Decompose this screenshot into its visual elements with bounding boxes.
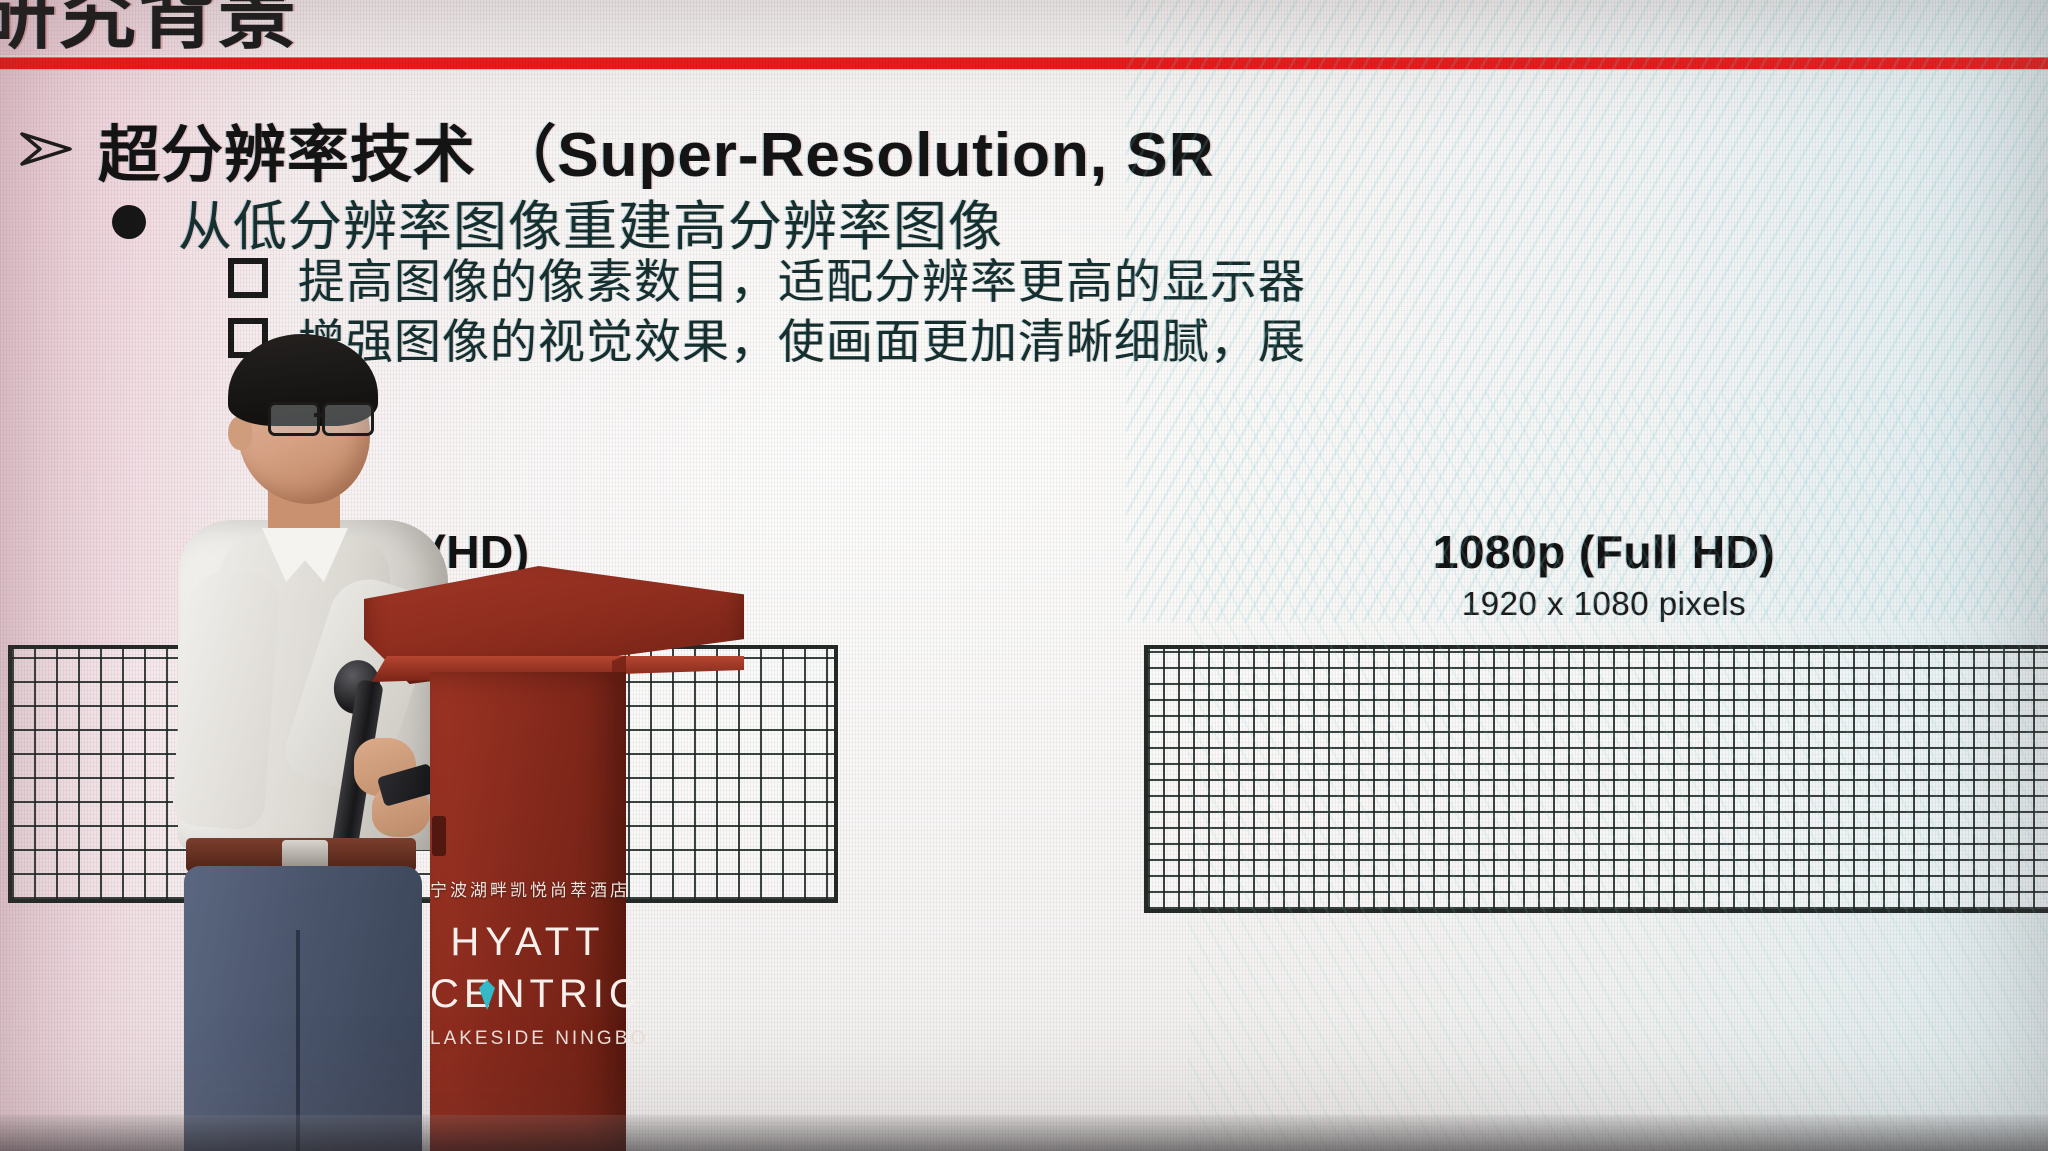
bullet-level3-1: 提高图像的像素数目，适配分辨率更高的显示器 [228,243,1306,312]
podium-brand-line1: HYATT [430,920,626,965]
resolution-subcaption-1080p: 1920 x 1080 pixels [1160,585,2048,623]
eyeglasses-icon [268,402,376,432]
bullet-level1-label: 超分辨率技术 （Super-Resolution, SR [98,104,1214,194]
hollow-square-bullet-icon [228,258,268,298]
bullet-level3-1-label: 提高图像的像素数目，适配分辨率更高的显示器 [298,243,1306,312]
bullet-level1: 超分辨率技术 （Super-Resolution, SR [20,104,1214,194]
slide-header-divider [0,57,2048,69]
pixel-grid-1080p [1144,645,2048,913]
filled-circle-bullet-icon [112,205,146,239]
arrow-right-icon [20,128,72,170]
resolution-caption-1080p: 1080p (Full HD) [1160,525,2048,579]
speaker-left-arm [171,567,281,831]
podium-brand-line2: CENTRIC [430,972,626,1017]
podium-chinese-name: 宁波湖畔凯悦尚萃酒店 [430,876,626,901]
podium: 宁波湖畔凯悦尚萃酒店 HYATT CENTRIC LAKESIDE NINGBO [360,560,748,1151]
podium-body [430,672,626,1151]
resolution-block-1080p: 1080p (Full HD) 1920 x 1080 pixels [1160,525,2048,913]
podium-slot [432,816,446,856]
stage-floor [0,1115,2048,1151]
hyatt-centric-logo-icon [474,978,500,1012]
presentation-scene: 研究背景 超分辨率技术 （Super-Resolution, SR 从低分辨率图… [0,0,2048,1151]
podium-brand-line3: LAKESIDE NINGBO [430,1028,626,1050]
